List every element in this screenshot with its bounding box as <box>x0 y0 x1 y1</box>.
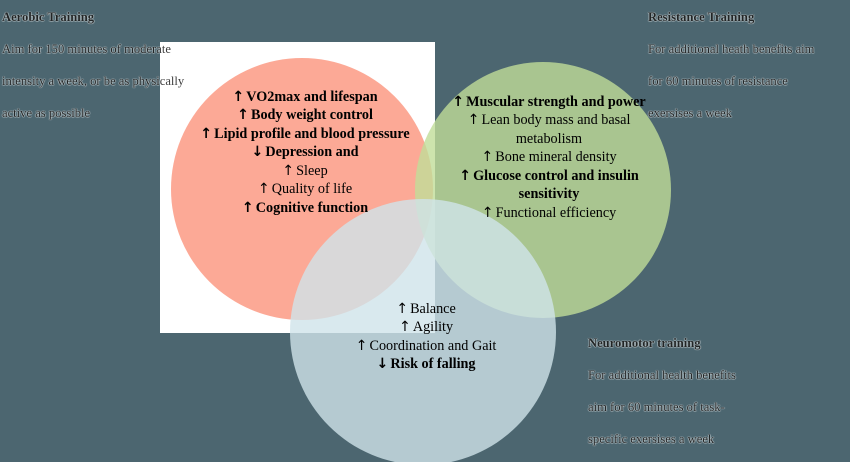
arrow-up-icon: ↑ <box>237 107 251 123</box>
arrow-up-icon: ↑ <box>468 112 482 128</box>
resistance-item-1-label: Lean body mass and basal metabolism <box>481 112 630 146</box>
caption-aerobic-line-1: intensity a week, or be as physically <box>2 65 232 97</box>
arrow-up-icon: ↑ <box>399 319 413 335</box>
arrow-up-icon: ↑ <box>452 94 466 110</box>
caption-neuromotor-title: Neuromotor training <box>588 327 793 359</box>
aerobic-item-2-label: Lipid profile and blood pressure <box>214 126 410 142</box>
arrow-up-icon: ↑ <box>459 168 473 184</box>
neuromotor-item-2-label: Coordination and Gait <box>370 338 497 354</box>
aerobic-item-6-label: Cognitive function <box>256 200 368 216</box>
caption-resistance: Resistance Training For additional heath… <box>648 1 850 129</box>
aerobic-item-1-label: Body weight control <box>251 107 373 123</box>
aerobic-item-4-label: Sleep <box>296 163 328 179</box>
arrow-up-icon: ↑ <box>482 205 496 221</box>
neuromotor-item-0: ↑Balance <box>318 300 534 318</box>
resistance-benefits-list: ↑Muscular strength and power ↑Lean body … <box>437 93 661 222</box>
resistance-item-2: ↑Bone mineral density <box>437 148 661 166</box>
neuromotor-item-3-label: Risk of falling <box>390 356 475 372</box>
neuromotor-item-3: ↓Risk of falling <box>318 355 534 373</box>
aerobic-item-4: ↑Sleep <box>186 162 424 180</box>
arrow-down-icon: ↓ <box>376 356 390 372</box>
caption-resistance-line-2: exersises a week <box>648 97 850 129</box>
neuromotor-item-2: ↑Coordination and Gait <box>318 337 534 355</box>
arrow-down-icon: ↓ <box>251 144 265 160</box>
resistance-item-3: ↑Glucose control and insulin sensitivity <box>437 167 661 204</box>
arrow-up-icon: ↑ <box>396 301 410 317</box>
neuromotor-item-1: ↑Agility <box>318 318 534 336</box>
neuromotor-item-1-label: Agility <box>413 319 453 335</box>
arrow-up-icon: ↑ <box>242 200 256 216</box>
aerobic-item-5: ↑Quality of life <box>186 180 424 198</box>
caption-resistance-line-1: for 60 minutes of resistance <box>648 65 850 97</box>
caption-resistance-line-0: For additional heath benefits aim <box>648 33 850 65</box>
venn-diagram-figure: ↑VO2max and lifespan ↑Body weight contro… <box>0 0 850 462</box>
aerobic-item-3: ↓Depression and <box>186 143 424 161</box>
caption-aerobic-line-2: active as possible <box>2 97 232 129</box>
caption-aerobic: Aerobic Training Aim for 150 minutes of … <box>2 1 232 129</box>
resistance-item-3-label: Glucose control and insulin sensitivity <box>473 168 639 202</box>
aerobic-item-3-label: Depression and <box>265 144 358 160</box>
arrow-up-icon: ↑ <box>481 149 495 165</box>
aerobic-item-5-label: Quality of life <box>272 181 352 197</box>
caption-resistance-title: Resistance Training <box>648 1 850 33</box>
aerobic-item-0-label: VO2max and lifespan <box>246 89 377 105</box>
neuromotor-item-0-label: Balance <box>410 301 456 317</box>
caption-neuromotor-line-2: specific exersises a week <box>588 423 793 455</box>
caption-aerobic-title: Aerobic Training <box>2 1 232 33</box>
caption-aerobic-line-0: Aim for 150 minutes of moderate <box>2 33 232 65</box>
neuromotor-benefits-list: ↑Balance ↑Agility ↑Coordination and Gait… <box>318 300 534 374</box>
arrow-up-icon: ↑ <box>356 338 370 354</box>
resistance-item-2-label: Bone mineral density <box>495 149 616 165</box>
resistance-item-4: ↑Functional efficiency <box>437 204 661 222</box>
arrow-up-icon: ↑ <box>232 89 246 105</box>
aerobic-item-6: ↑Cognitive function <box>186 199 424 217</box>
resistance-item-1: ↑Lean body mass and basal metabolism <box>437 111 661 148</box>
resistance-item-0: ↑Muscular strength and power <box>437 93 661 111</box>
arrow-up-icon: ↑ <box>282 163 296 179</box>
resistance-item-4-label: Functional efficiency <box>496 205 617 221</box>
caption-neuromotor-line-1: aim for 60 minutes of task- <box>588 391 793 423</box>
arrow-up-icon: ↑ <box>258 181 272 197</box>
caption-neuromotor: Neuromotor training For additional healt… <box>588 327 793 455</box>
caption-neuromotor-line-0: For additional health benefits <box>588 359 793 391</box>
resistance-item-0-label: Muscular strength and power <box>466 94 646 110</box>
